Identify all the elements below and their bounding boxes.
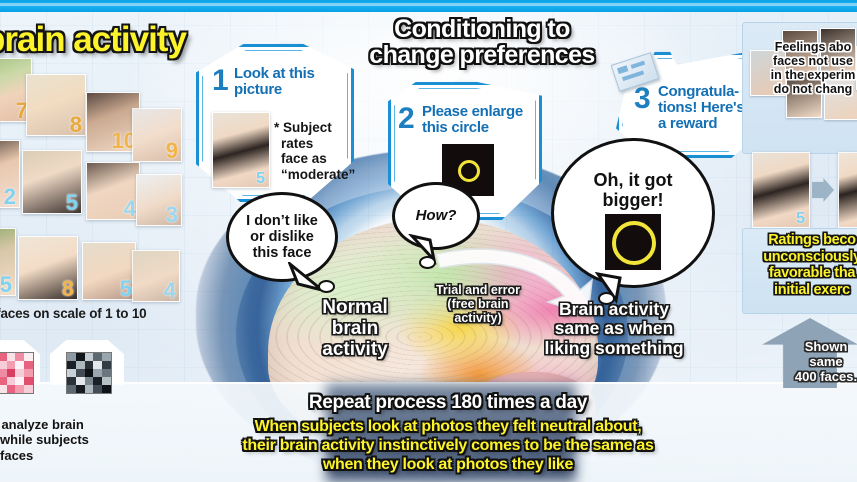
step-1-bullet-line: rates — [274, 136, 340, 152]
label-line: activity — [300, 340, 410, 361]
step-2-number: 2 — [398, 104, 415, 134]
face-thumbnail: 4 — [132, 250, 180, 302]
step-1-text-line: picture — [234, 82, 340, 98]
shown-same-faces-text: Shown same 400 faces. — [784, 340, 857, 384]
face-rating-value: 5 — [0, 272, 12, 296]
stimulus-circle-small — [458, 160, 480, 182]
right-face-before-rating: 5 — [796, 210, 805, 228]
label-brain-activity-same: Brain activity same as when liking somet… — [524, 300, 704, 358]
top-blue-bar — [0, 0, 857, 12]
stimulus-circle-large — [612, 221, 656, 265]
unchanged-line: in the experim — [748, 68, 857, 82]
headline: brain activity — [0, 20, 186, 60]
label-line: liking something — [524, 339, 704, 358]
step-1-bullet-line: * Subject — [274, 120, 340, 136]
step-1-text: Look at this picture — [234, 66, 340, 98]
step-1-face-rating: 5 — [256, 170, 265, 188]
page-title-line2: change preferences — [332, 42, 632, 68]
bubble-how-anchor — [419, 256, 436, 269]
bubble-line: Oh, it got — [594, 170, 673, 190]
step-1-bullet-line: face as — [274, 151, 340, 167]
conclusion-line: When subjects look at photos they felt n… — [188, 418, 708, 437]
fmri-caption-line: k at faces — [0, 448, 164, 463]
unchanged-line: do not chang — [748, 82, 857, 96]
face-rating-value: 8 — [70, 112, 82, 136]
step-3-stimulus-square — [605, 214, 661, 270]
bubble-bigger: Oh, it got bigger! — [551, 138, 715, 288]
step-3-number: 3 — [634, 84, 651, 114]
right-panel-ratings-text: Ratings beco unconsciously favorable tha… — [748, 232, 857, 298]
fmri-caption-line: MRI analyze brain — [0, 417, 164, 432]
top-bar-shine — [0, 3, 857, 6]
face-thumbnail: 3 — [136, 174, 182, 226]
face-rating-value: 4 — [164, 278, 176, 302]
step-1-bullet: * Subject rates face as “moderate” — [274, 120, 340, 182]
conclusion-line: their brain activity instinctively comes… — [188, 437, 708, 456]
face-rating-value: 4 — [124, 196, 136, 220]
step-1-text-line: Look at this — [234, 66, 340, 82]
label-line: (free brain — [420, 298, 536, 312]
face-rating-value: 2 — [4, 184, 16, 208]
shown-line: 400 faces. — [784, 370, 857, 385]
right-face-after — [838, 152, 857, 228]
label-normal-brain-activity: Normal brain activity — [300, 298, 410, 361]
label-line: Trial and error — [420, 284, 536, 298]
label-line: activity) — [420, 312, 536, 326]
label-line: Brain activity — [524, 300, 704, 319]
bubble-dont-like-text: I don’t like or dislike this face — [246, 213, 318, 262]
unchanged-line: faces not use — [748, 54, 857, 68]
face-grid-caption: 00 faces on scale of 1 to 10 — [0, 306, 228, 321]
bubble-line: bigger! — [594, 190, 673, 210]
step-1-number: 1 — [212, 66, 229, 96]
bubble-dont-like-anchor — [318, 280, 335, 293]
bubble-line: I don’t like — [246, 213, 318, 229]
face-rating-value: 8 — [62, 276, 74, 300]
fmri-caption-line: vity while subjects — [0, 432, 164, 447]
conclusion-line: when they look at photos they like — [188, 456, 708, 475]
face-rating-grid: 7 8 10 9 2 5 4 3 — [0, 56, 168, 304]
unchanged-line: Feelings abo — [748, 40, 857, 54]
conclusion-text: When subjects look at photos they felt n… — [188, 418, 708, 475]
face-rating-value: 9 — [166, 138, 178, 162]
step-2-text: Please enlarge this circle — [422, 104, 534, 136]
fmri-pattern-pink — [0, 352, 34, 394]
face-thumbnail: 9 — [132, 108, 182, 162]
label-line: same as when — [524, 319, 704, 338]
repeat-process-label: Repeat process 180 times a day — [238, 392, 658, 414]
shown-line: same — [784, 355, 857, 370]
face-thumbnail: 4 — [86, 162, 140, 220]
page-title: Conditioning to change preferences — [332, 16, 632, 68]
face-thumbnail: 5 — [0, 228, 16, 296]
step-2-text-line: Please enlarge — [422, 104, 534, 120]
shown-line: Shown — [784, 340, 857, 355]
page-title-line1: Conditioning to — [332, 16, 632, 42]
face-rating-value: 5 — [120, 276, 132, 300]
label-trial-and-error: Trial and error (free brain activity) — [420, 284, 536, 325]
face-thumbnail: 5 — [22, 150, 82, 214]
bubble-bigger-text: Oh, it got bigger! — [594, 170, 673, 210]
label-line: brain — [300, 319, 410, 340]
face-rating-value: 3 — [166, 202, 178, 226]
right-face-before: 5 — [752, 152, 810, 228]
ratings-line: favorable tha — [748, 265, 857, 282]
ratings-line: unconsciously — [748, 249, 857, 266]
step-1-bullet-line: “moderate” — [274, 167, 340, 183]
face-rating-value: 5 — [66, 190, 78, 214]
right-panel-unchanged-text: Feelings abo faces not use in the experi… — [748, 40, 857, 96]
bubble-line: this face — [246, 245, 318, 261]
face-thumbnail: 8 — [26, 74, 86, 136]
face-thumbnail: 5 — [82, 242, 136, 300]
face-thumbnail: 8 — [18, 236, 78, 300]
ratings-line: initial exerc — [748, 282, 857, 299]
step-2-text-line: this circle — [422, 120, 534, 136]
bubble-line: or dislike — [246, 229, 318, 245]
ratings-line: Ratings beco — [748, 232, 857, 249]
face-thumbnail: 2 — [0, 140, 20, 208]
fmri-caption: MRI analyze brain vity while subjects k … — [0, 417, 164, 463]
fmri-pattern-gray — [66, 352, 112, 394]
step-1-face-photo: 5 — [212, 112, 270, 188]
infographic-canvas: 7 8 10 9 2 5 4 3 — [0, 0, 857, 482]
label-line: Normal — [300, 298, 410, 319]
bubble-how-text: How? — [416, 208, 457, 225]
